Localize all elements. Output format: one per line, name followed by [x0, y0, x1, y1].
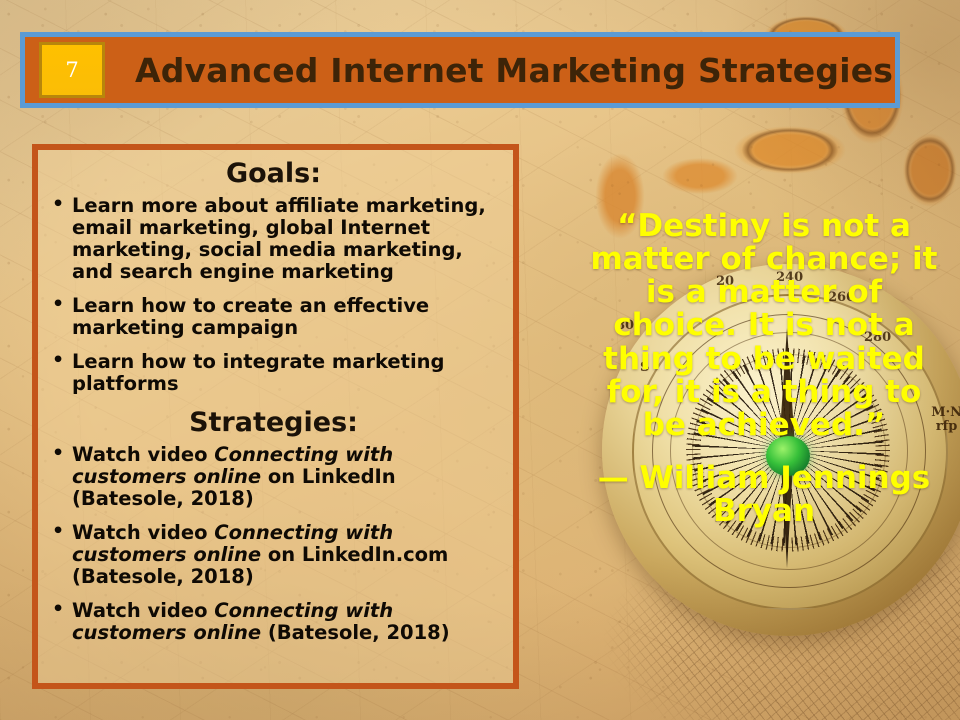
quote-author: — William Jennings Bryan	[580, 462, 948, 528]
slide-canvas: 20 240 260 280 S 80 M·N rfp 7 Advanced I…	[0, 0, 960, 720]
page-title: Advanced Internet Marketing Strategies	[135, 51, 893, 90]
goals-heading: Goals:	[48, 158, 499, 189]
list-item: Learn how to integrate marketing platfor…	[48, 351, 499, 395]
list-item: Watch video Connecting with customers on…	[48, 522, 499, 588]
list-item: Watch video Connecting with customers on…	[48, 444, 499, 510]
strategy-suffix: (Batesole, 2018)	[261, 621, 450, 644]
list-item: Watch video Connecting with customers on…	[48, 600, 499, 644]
content-panel: Goals: Learn more about affiliate market…	[32, 144, 519, 689]
strategies-list: Watch video Connecting with customers on…	[48, 444, 499, 644]
strategy-prefix: Watch video	[72, 599, 214, 622]
quote-block: “Destiny is not a matter of chance; it i…	[580, 210, 948, 528]
goal-text: Learn how to integrate marketing platfor…	[72, 350, 444, 395]
slide-number-badge: 7	[39, 42, 105, 98]
goal-text: Learn more about affiliate marketing, em…	[72, 194, 486, 283]
list-item: Learn how to create an effective marketi…	[48, 295, 499, 339]
goal-text: Learn how to create an effective marketi…	[72, 294, 429, 339]
goals-list: Learn more about affiliate marketing, em…	[48, 195, 499, 395]
slide-title-bar: 7 Advanced Internet Marketing Strategies	[20, 32, 900, 108]
strategy-prefix: Watch video	[72, 443, 214, 466]
strategy-prefix: Watch video	[72, 521, 214, 544]
strategies-heading: Strategies:	[48, 407, 499, 438]
quote-text: “Destiny is not a matter of chance; it i…	[580, 210, 948, 442]
list-item: Learn more about affiliate marketing, em…	[48, 195, 499, 283]
